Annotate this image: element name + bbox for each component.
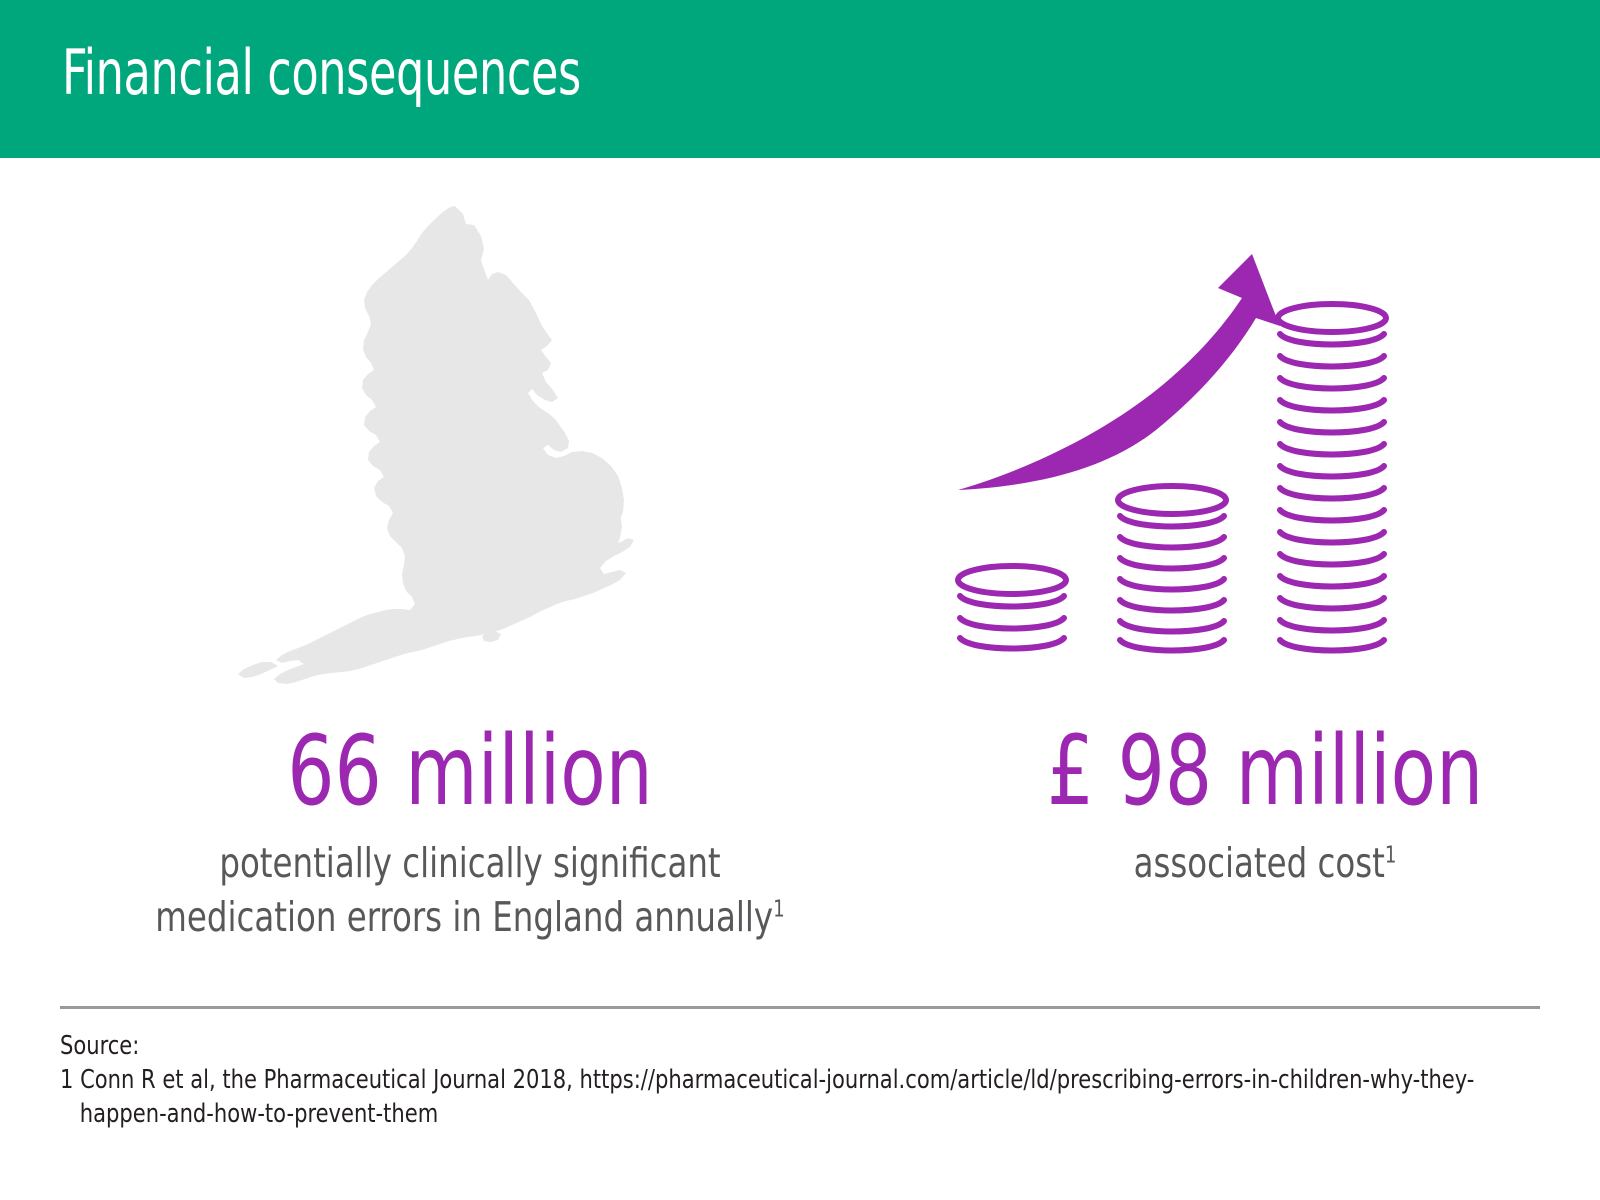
source-reference-line-2: happen-and-how-to-prevent-them — [60, 1098, 1410, 1132]
source-block: Source: 1 Conn R et al, the Pharmaceutic… — [60, 1030, 1410, 1131]
slide-financial-consequences: Financial consequences 66 million potent… — [0, 0, 1600, 1200]
medium-coin-stack — [1118, 486, 1226, 651]
stat-value-medication-errors: 66 million — [66, 723, 874, 819]
stat-caption-superscript: 1 — [1385, 842, 1397, 868]
stat-caption-associated-cost: associated cost1 — [970, 836, 1560, 890]
stat-caption-superscript: 1 — [773, 896, 785, 922]
content-area: 66 million potentially clinically signif… — [0, 158, 1600, 988]
source-reference-line-1: 1 Conn R et al, the Pharmaceutical Journ… — [60, 1064, 1410, 1098]
source-label: Source: — [60, 1030, 1410, 1064]
england-map-icon — [230, 200, 680, 690]
stat-block-associated-cost: £ 98 million associated cost1 — [930, 158, 1600, 988]
stat-caption-line-1: potentially clinically significant — [219, 839, 720, 887]
stat-value-associated-cost: £ 98 million — [977, 723, 1553, 819]
page-title: Financial consequences — [62, 42, 581, 104]
stat-caption-line-1: associated cost — [1134, 839, 1385, 887]
header-band: Financial consequences — [0, 0, 1600, 158]
small-coin-stack — [958, 566, 1066, 649]
stat-caption-medication-errors: potentially clinically significant medic… — [56, 836, 883, 944]
footer-divider — [60, 1006, 1540, 1009]
stat-caption-line-2: medication errors in England annually — [155, 893, 773, 941]
upward-growth-arrow — [958, 254, 1280, 490]
coin-stacks-growth-arrow-icon — [950, 240, 1440, 660]
large-coin-stack — [1278, 304, 1386, 651]
stat-block-medication-errors: 66 million potentially clinically signif… — [0, 158, 940, 988]
